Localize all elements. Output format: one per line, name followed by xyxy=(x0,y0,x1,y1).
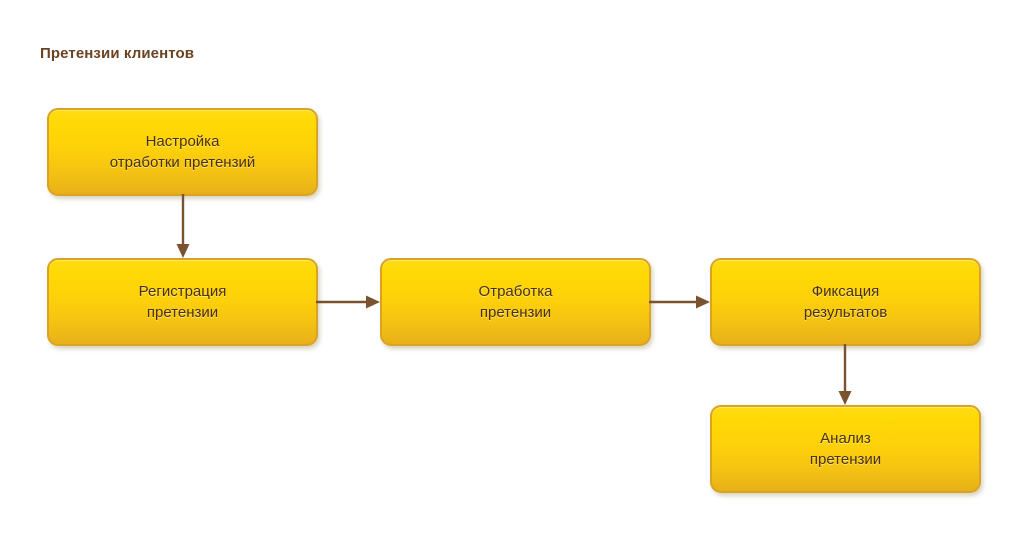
arrow-right-icon xyxy=(316,295,382,309)
process-node-fixation[interactable]: Фиксация результатов xyxy=(710,258,981,346)
process-node-analysis[interactable]: Анализ претензии xyxy=(710,405,981,493)
arrow-down-icon xyxy=(838,344,852,407)
process-node-registration-label: Регистрация претензии xyxy=(131,281,235,323)
connector-fixation-to-analysis xyxy=(838,344,852,407)
page-title: Претензии клиентов xyxy=(40,45,194,62)
arrow-down-icon xyxy=(176,194,190,260)
process-node-setup-label: Настройка отработки претензий xyxy=(102,131,263,173)
connector-setup-to-registration xyxy=(176,194,190,260)
connector-processing-to-fixation xyxy=(649,295,712,309)
process-node-setup[interactable]: Настройка отработки претензий xyxy=(47,108,318,196)
process-node-fixation-label: Фиксация результатов xyxy=(796,281,895,323)
process-node-analysis-label: Анализ претензии xyxy=(802,428,889,470)
arrow-right-icon xyxy=(649,295,712,309)
diagram-canvas: Претензии клиентов Настройка отработки п… xyxy=(0,0,1024,548)
process-node-processing[interactable]: Отработка претензии xyxy=(380,258,651,346)
process-node-processing-label: Отработка претензии xyxy=(471,281,561,323)
connector-registration-to-processing xyxy=(316,295,382,309)
process-node-registration[interactable]: Регистрация претензии xyxy=(47,258,318,346)
